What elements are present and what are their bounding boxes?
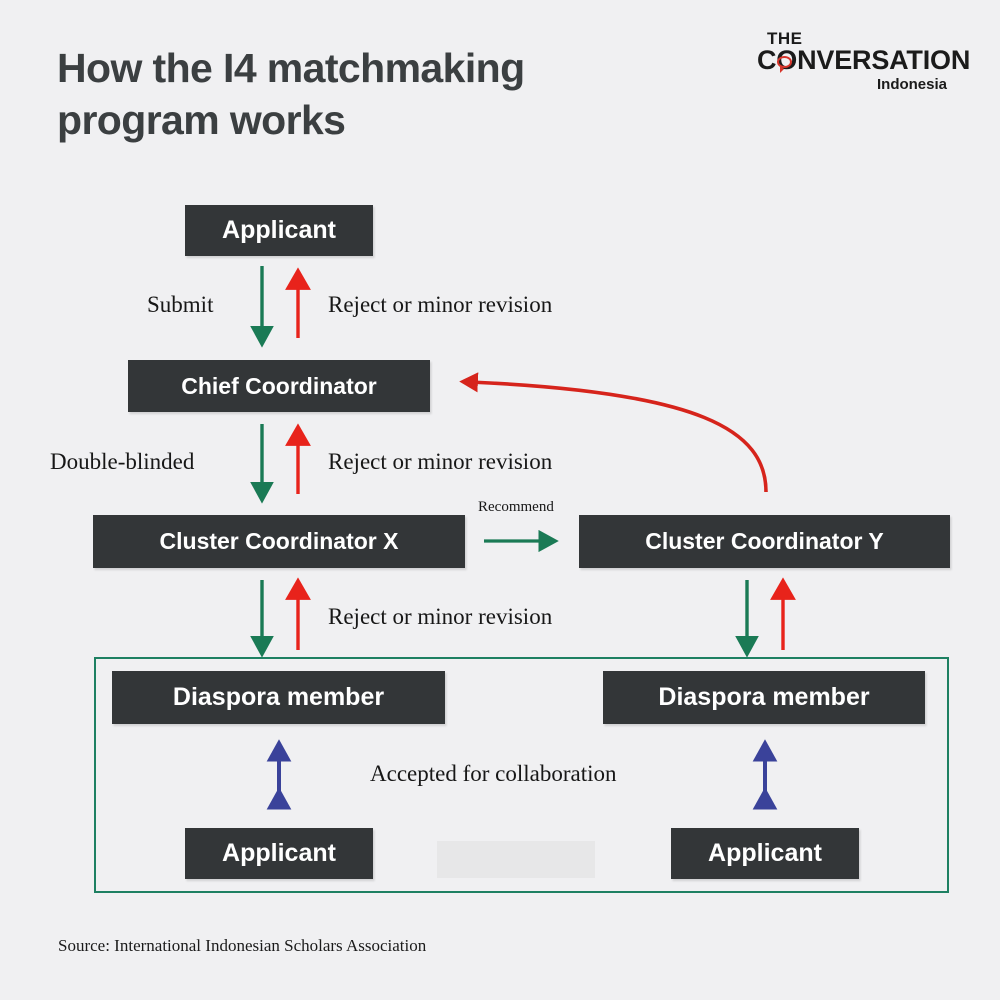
node-label: Applicant — [222, 216, 336, 245]
node-cluster-coord-y: Cluster Coordinator Y — [579, 515, 950, 568]
node-diaspora-left: Diaspora member — [112, 671, 445, 724]
speech-bubble-icon — [777, 56, 792, 68]
logo-line-conversation: CONVERSATION — [757, 47, 947, 75]
node-label: Cluster Coordinator X — [160, 528, 399, 555]
label-reject-2: Reject or minor revision — [328, 449, 552, 475]
node-label: Applicant — [708, 839, 822, 868]
source-caption: Source: International Indonesian Scholar… — [58, 936, 426, 956]
placeholder-block — [437, 841, 595, 878]
label-reject-3: Reject or minor revision — [328, 604, 552, 630]
node-diaspora-right: Diaspora member — [603, 671, 925, 724]
label-double-blinded: Double-blinded — [50, 449, 194, 475]
arrow-curved-cluster-y-to-chief — [470, 382, 766, 492]
node-applicant-top: Applicant — [185, 205, 373, 256]
label-accepted: Accepted for collaboration — [370, 761, 617, 787]
the-conversation-logo: THE CONVERSATION Indonesia — [757, 30, 947, 94]
node-applicant-left: Applicant — [185, 828, 373, 879]
node-label: Diaspora member — [658, 683, 869, 712]
label-recommend: Recommend — [478, 499, 554, 516]
node-applicant-right: Applicant — [671, 828, 859, 879]
page-title: How the I4 matchmaking program works — [57, 42, 697, 147]
node-cluster-coord-x: Cluster Coordinator X — [93, 515, 465, 568]
infographic-canvas: How the I4 matchmaking program works THE… — [0, 0, 1000, 1000]
logo-line-indonesia: Indonesia — [757, 76, 947, 94]
node-label: Diaspora member — [173, 683, 384, 712]
node-label: Chief Coordinator — [181, 373, 377, 400]
node-label: Cluster Coordinator Y — [645, 528, 884, 555]
label-submit: Submit — [147, 292, 213, 318]
label-reject-1: Reject or minor revision — [328, 292, 552, 318]
node-chief-coordinator: Chief Coordinator — [128, 360, 430, 412]
node-label: Applicant — [222, 839, 336, 868]
